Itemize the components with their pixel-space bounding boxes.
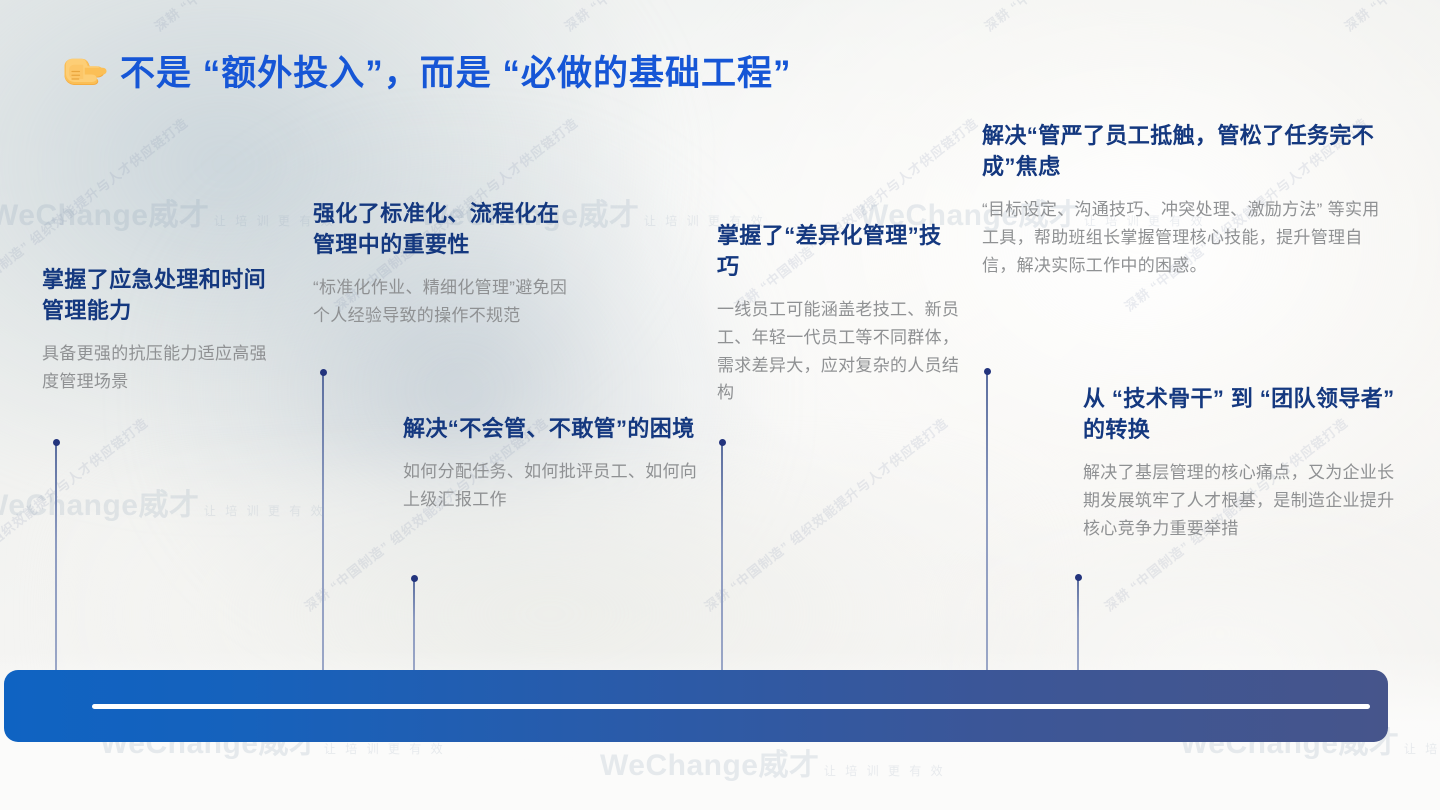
info-card-2: 强化了标准化、流程化在管理中的重要性 “标准化作业、精细化管理”避免因个人经验导… bbox=[313, 198, 578, 330]
pointing-hand-icon bbox=[60, 52, 108, 94]
connector-line-3 bbox=[413, 578, 415, 670]
connector-line-4 bbox=[721, 442, 723, 670]
info-card-5-title: 解决“管严了员工抵触，管松了任务完不成”焦虑 bbox=[982, 120, 1394, 182]
connector-line-1 bbox=[55, 442, 57, 670]
connector-line-2 bbox=[322, 372, 324, 670]
info-card-4-body: 一线员工可能涵盖老技工、新员工、年轻一代员工等不同群体，需求差异大，应对复杂的人… bbox=[717, 296, 962, 406]
info-card-3-title: 解决“不会管、不敢管”的困境 bbox=[403, 413, 703, 444]
page-title: 不是 “额外投入”，而是 “必做的基础工程” bbox=[60, 52, 791, 94]
info-card-5-body: “目标设定、沟通技巧、冲突处理、激励方法” 等实用工具，帮助班组长掌握管理核心技… bbox=[982, 196, 1394, 279]
info-card-2-title: 强化了标准化、流程化在管理中的重要性 bbox=[313, 198, 578, 260]
info-card-3-body: 如何分配任务、如何批评员工、如何向上级汇报工作 bbox=[403, 458, 703, 513]
info-card-6: 从 “技术骨干” 到 “团队领导者” 的转换 解决了基层管理的核心痛点，又为企业… bbox=[1083, 383, 1398, 542]
info-card-6-title: 从 “技术骨干” 到 “团队领导者” 的转换 bbox=[1083, 383, 1398, 445]
info-card-4-title: 掌握了“差异化管理”技巧 bbox=[717, 220, 962, 282]
page-title-text: 不是 “额外投入”，而是 “必做的基础工程” bbox=[120, 56, 791, 91]
info-card-1: 掌握了应急处理和时间管理能力 具备更强的抗压能力适应高强度管理场景 bbox=[42, 264, 272, 396]
connector-line-5 bbox=[986, 371, 988, 670]
info-card-1-body: 具备更强的抗压能力适应高强度管理场景 bbox=[42, 340, 272, 395]
bottom-bar-highlight-line bbox=[92, 704, 1370, 709]
info-card-3: 解决“不会管、不敢管”的困境 如何分配任务、如何批评员工、如何向上级汇报工作 bbox=[403, 413, 703, 513]
info-card-4: 掌握了“差异化管理”技巧 一线员工可能涵盖老技工、新员工、年轻一代员工等不同群体… bbox=[717, 220, 962, 407]
info-card-5: 解决“管严了员工抵触，管松了任务完不成”焦虑 “目标设定、沟通技巧、冲突处理、激… bbox=[982, 120, 1394, 279]
connector-line-6 bbox=[1077, 577, 1079, 670]
slide-canvas: WeChange威才 让 培 训 更 有 效 WeChange威才 让 培 训 … bbox=[0, 0, 1440, 810]
info-card-2-body: “标准化作业、精细化管理”避免因个人经验导致的操作不规范 bbox=[313, 274, 578, 329]
info-card-1-title: 掌握了应急处理和时间管理能力 bbox=[42, 264, 272, 326]
bottom-accent-bar bbox=[4, 670, 1388, 742]
info-card-6-body: 解决了基层管理的核心痛点，又为企业长期发展筑牢了人才根基，是制造企业提升核心竞争… bbox=[1083, 459, 1398, 542]
